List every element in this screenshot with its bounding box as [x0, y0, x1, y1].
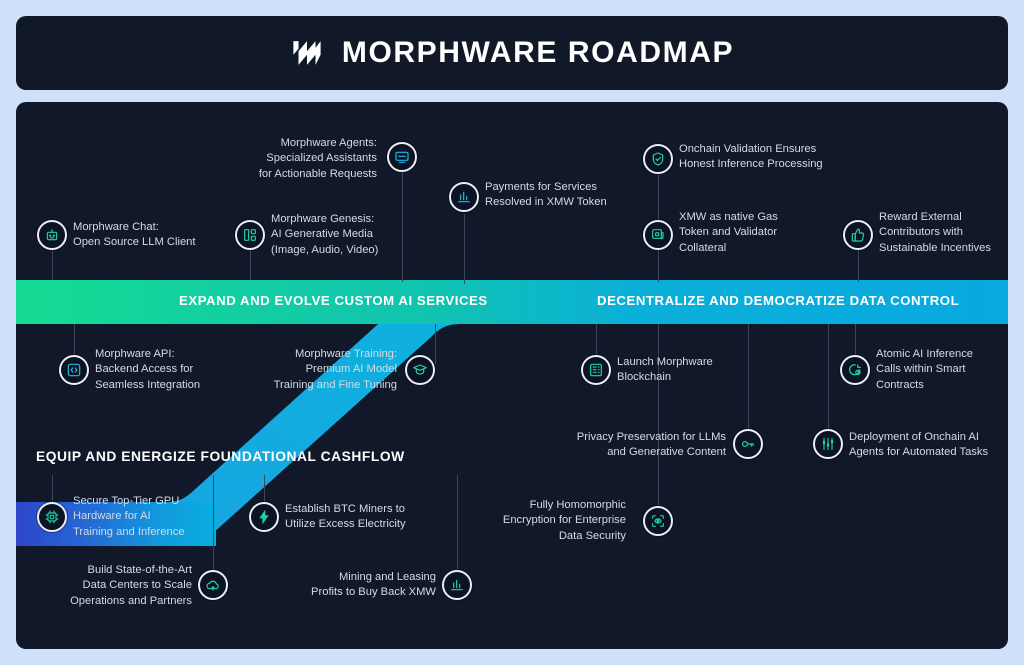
marker-morphware-agents[interactable] [387, 142, 417, 172]
key-icon [740, 436, 756, 452]
stem-homomorphic-encryption [658, 324, 659, 520]
label-payments-xmw: Payments for Services Resolved in XMW To… [485, 180, 665, 211]
label-onchain-ai-agents: Deployment of Onchain AI Agents for Auto… [849, 430, 1008, 461]
stem-reward-contributors [858, 250, 859, 282]
marker-onchain-validation[interactable] [643, 144, 673, 174]
stem-payments-xmw [464, 214, 465, 284]
morphware-mw-logo [290, 36, 324, 70]
label-buy-back-xmw: Mining and Leasing Profits to Buy Back X… [260, 570, 436, 601]
marker-morphware-chat[interactable] [37, 220, 67, 250]
agents-sliders-icon [820, 436, 836, 452]
bar-chart-icon [449, 577, 465, 593]
marker-morphware-training[interactable] [405, 355, 435, 385]
thumbs-up-icon [850, 227, 866, 243]
marker-onchain-ai-agents[interactable] [813, 429, 843, 459]
band-label-expand: EXPAND AND EVOLVE CUSTOM AI SERVICES [179, 293, 488, 308]
label-atomic-inference: Atomic AI Inference Calls within Smart C… [876, 347, 1008, 393]
robot-icon [44, 227, 60, 243]
atomic-calls-icon [847, 362, 863, 378]
marker-btc-miners[interactable] [249, 502, 279, 532]
marker-morphware-api[interactable] [59, 355, 89, 385]
cpu-icon [44, 509, 60, 525]
label-reward-contributors: Reward External Contributors with Sustai… [879, 210, 1008, 256]
label-morphware-training: Morphware Training: Premium AI Model Tra… [229, 347, 397, 393]
code-brackets-icon [66, 362, 82, 378]
band-label-decentralize: DECENTRALIZE AND DEMOCRATIZE DATA CONTRO… [597, 293, 959, 308]
marker-data-centers[interactable] [198, 570, 228, 600]
marker-xmw-gas-token[interactable] [643, 220, 673, 250]
label-morphware-genesis: Morphware Genesis: AI Generative Media (… [271, 212, 451, 258]
page-title: MORPHWARE ROADMAP [342, 36, 734, 70]
layout-grid-icon [242, 227, 258, 243]
marker-payments-xmw[interactable] [449, 182, 479, 212]
marker-secure-gpu[interactable] [37, 502, 67, 532]
label-xmw-gas-token: XMW as native Gas Token and Validator Co… [679, 210, 849, 256]
cloud-upload-icon [205, 577, 221, 593]
label-morphware-agents: Morphware Agents: Specialized Assistants… [177, 136, 377, 182]
label-launch-blockchain: Launch Morphware Blockchain [617, 355, 797, 386]
label-secure-gpu: Secure Top-Tier GPU Hardware for AI Trai… [73, 494, 243, 540]
marker-launch-blockchain[interactable] [581, 355, 611, 385]
marker-homomorphic-encryption[interactable] [643, 506, 673, 536]
bar-chart-icon [456, 189, 472, 205]
stem-morphware-chat [52, 250, 53, 280]
blockchain-chip-icon [588, 362, 604, 378]
roadmap-card: EXPAND AND EVOLVE CUSTOM AI SERVICES DEC… [16, 102, 1008, 649]
scan-eye-icon [650, 513, 666, 529]
band-label-equip: EQUIP AND ENERGIZE FOUNDATIONAL CASHFLOW [36, 449, 405, 464]
marker-morphware-genesis[interactable] [235, 220, 265, 250]
shield-check-icon [650, 151, 666, 167]
stem-morphware-genesis [250, 250, 251, 280]
stem-secure-gpu [52, 475, 53, 505]
label-privacy-preservation: Privacy Preservation for LLMs and Genera… [541, 430, 726, 461]
label-onchain-validation: Onchain Validation Ensures Honest Infere… [679, 142, 889, 173]
stem-btc-miners [264, 475, 265, 505]
stem-onchain-ai-agents [828, 324, 829, 438]
marker-buy-back-xmw[interactable] [442, 570, 472, 600]
marker-reward-contributors[interactable] [843, 220, 873, 250]
label-morphware-chat: Morphware Chat: Open Source LLM Client [73, 220, 243, 251]
roadmap-infographic: MORPHWARE ROADMAP [0, 0, 1024, 665]
graduation-cap-icon [412, 362, 428, 378]
stem-morphware-training [435, 324, 436, 364]
stem-xmw-gas-token [658, 250, 659, 282]
label-btc-miners: Establish BTC Miners to Utilize Excess E… [285, 502, 475, 533]
marker-atomic-inference[interactable] [840, 355, 870, 385]
label-homomorphic-encryption: Fully Homomorphic Encryption for Enterpr… [451, 498, 626, 544]
gas-wallet-icon [650, 227, 666, 243]
marker-privacy-preservation[interactable] [733, 429, 763, 459]
lightning-bolt-icon [256, 509, 272, 525]
label-data-centers: Build State-of-the-Art Data Centers to S… [16, 563, 192, 609]
monitor-icon [394, 149, 410, 165]
header-card: MORPHWARE ROADMAP [16, 16, 1008, 90]
